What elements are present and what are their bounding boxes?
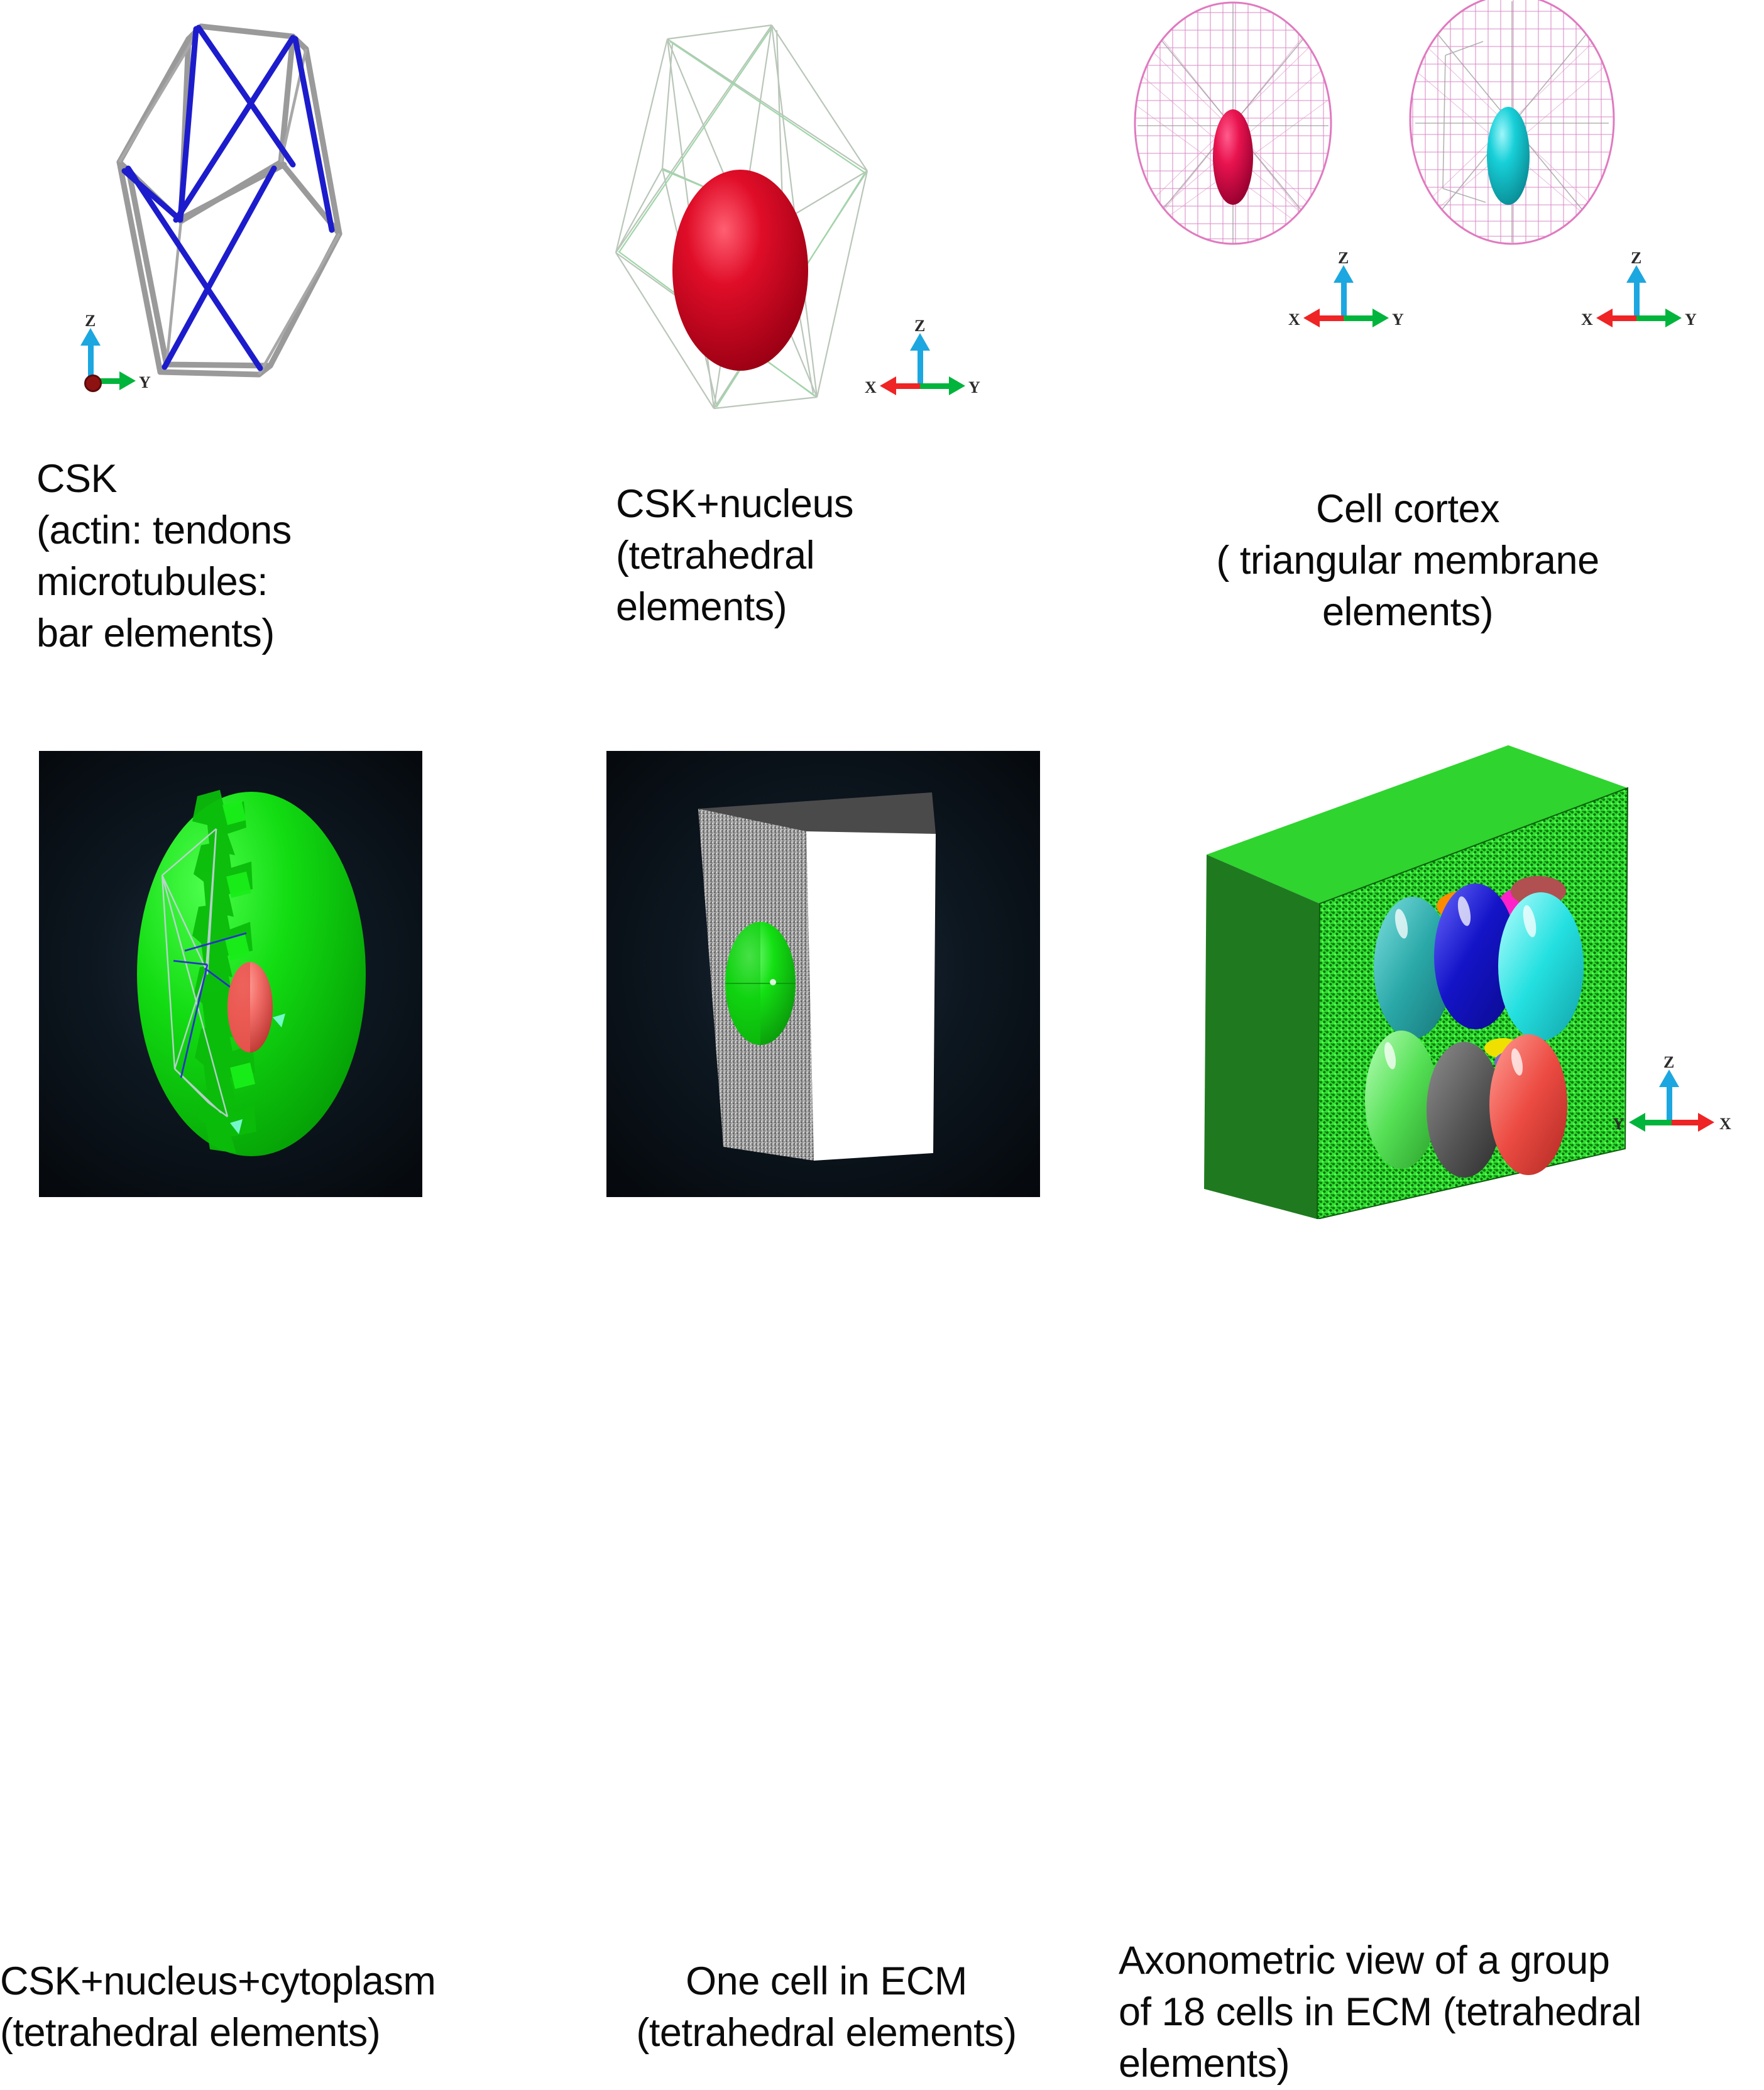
cell-lightgreen [1365, 1031, 1438, 1169]
y-axis-arrow [1636, 315, 1669, 321]
z-axis-arrowhead [1334, 265, 1354, 283]
panel-cytoplasm: CSK+nucleus+cytoplasm (tetrahedral eleme… [39, 751, 422, 1197]
x-axis-label: X [865, 378, 877, 397]
block-side-face [1204, 855, 1320, 1219]
nucleus-right [1487, 107, 1530, 205]
x-axis-label: X [1719, 1115, 1731, 1134]
x-axis-arrowhead [1596, 309, 1613, 327]
axis-triad-csk: Z Y [49, 320, 150, 402]
axis-triad-18cells: Z X Y [1628, 1062, 1728, 1144]
y-axis-arrow [1344, 315, 1376, 321]
caption-cell-cortex: Cell cortex ( triangular membrane elemen… [1068, 484, 1747, 638]
z-axis-arrow [918, 347, 923, 386]
z-axis-arrow [1341, 279, 1347, 318]
nucleus-left [1213, 109, 1253, 205]
y-axis-arrowhead [1665, 309, 1682, 327]
cell-cortex-render: Z X Y Z X Y [1068, 0, 1764, 440]
caption-csk: CSK (actin: tendons microtubules: bar el… [36, 454, 376, 660]
y-axis-label: Y [1392, 310, 1404, 329]
x-axis-arrow [1669, 1120, 1702, 1125]
one-cell-ecm-render [606, 751, 1040, 1197]
y-axis-label: Y [1685, 310, 1697, 329]
z-axis-arrow [1634, 279, 1640, 318]
ecm-18cells-svg [1194, 723, 1764, 1219]
axis-triad-cortex-left: Z X Y [1302, 258, 1403, 339]
z-axis-label: Z [1663, 1053, 1674, 1072]
x-axis-arrow [1316, 315, 1346, 321]
x-axis-arrow [1609, 315, 1639, 321]
caption-csk-nucleus: CSK+nucleus (tetrahedral elements) [616, 479, 1018, 633]
z-axis-label: Z [1631, 249, 1641, 268]
cell-red [1489, 1034, 1567, 1175]
csk-tensegrity-render: Z Y [0, 0, 390, 440]
x-axis-origin-dot [84, 375, 102, 392]
nucleus-ellipsoid [672, 170, 808, 371]
caption-18-cells-ecm: Axonometric view of a group of 18 cells … [1119, 1935, 1764, 2090]
y-axis-arrowhead [1372, 309, 1389, 327]
z-axis-arrowhead [1626, 265, 1646, 283]
cortex-mesh-svg [1068, 0, 1764, 440]
group-18-cells-render: Z X Y [1194, 723, 1764, 1219]
z-axis-label: Z [914, 317, 925, 336]
z-axis-arrowhead [910, 333, 930, 351]
z-axis-arrow [1667, 1083, 1672, 1122]
x-axis-arrowhead [1303, 309, 1320, 327]
figure-root: Z Y CSK (actin: tendons microtubules: ba… [0, 0, 1764, 1430]
z-axis-label: Z [1338, 249, 1349, 268]
axis-triad-csk-nucleus: Z X Y [879, 326, 979, 407]
x-axis-arrowhead [1698, 1113, 1714, 1132]
y-axis-arrow [1641, 1120, 1672, 1125]
panel-cell-cortex: Z X Y Z X Y Cell cortex ( triangular mem [1068, 0, 1764, 440]
ecm-block-svg [606, 751, 1040, 1197]
csk-nucleus-render: Z X Y [597, 0, 1037, 440]
x-axis-label: X [1581, 310, 1593, 329]
cytoplasm-svg [39, 751, 422, 1197]
cell-cyan [1498, 892, 1584, 1041]
cytoplasm-render [39, 751, 422, 1197]
x-axis-arrow [892, 383, 923, 389]
ecm-white-face [806, 831, 936, 1161]
z-axis-arrowhead [1659, 1070, 1679, 1087]
y-axis-arrowhead [949, 376, 965, 395]
panel-one-cell-ecm: One cell in ECM (tetrahedral elements) [606, 751, 1040, 1197]
y-axis-arrowhead [1629, 1113, 1645, 1132]
y-axis-label: Y [1613, 1115, 1624, 1134]
y-axis-label: Y [968, 378, 980, 397]
y-axis-arrowhead [119, 371, 136, 390]
axis-triad-cortex-right: Z X Y [1595, 258, 1696, 339]
panel-18-cells-ecm: Z X Y Axonometric view of a group of 18 … [1194, 723, 1764, 1219]
panel-csk-nucleus: Z X Y CSK+nucleus (tetrahedral elements) [597, 0, 1037, 440]
x-axis-label: X [1288, 310, 1300, 329]
y-axis-label: Y [139, 373, 151, 392]
z-axis-label: Z [85, 312, 96, 331]
y-axis-arrow [920, 383, 953, 389]
z-axis-arrowhead [80, 328, 101, 346]
panel-csk: Z Y CSK (actin: tendons microtubules: ba… [0, 0, 390, 440]
x-axis-arrowhead [880, 376, 896, 395]
